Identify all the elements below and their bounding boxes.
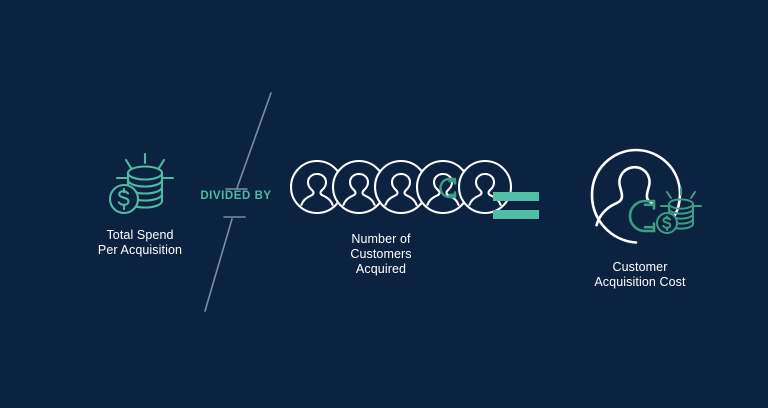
operator-divided-by-label: DIVIDED BY	[200, 190, 271, 202]
operator-equals	[493, 192, 539, 219]
infographic-stage: Total Spend Per Acquisition DIVIDED BY	[0, 0, 768, 408]
operator-divided-by: DIVIDED BY	[186, 190, 286, 202]
equals-bar-top	[493, 192, 539, 201]
term-customer-acquisition-cost: Customer Acquisition Cost	[560, 148, 720, 290]
magnet-icon	[630, 201, 654, 231]
term-customer-acquisition-cost-label: Customer Acquisition Cost	[594, 260, 685, 290]
infographic-canvas: Total Spend Per Acquisition DIVIDED BY	[0, 0, 768, 408]
customer-magnet-coins-icon	[578, 148, 702, 248]
equals-bar-bottom	[493, 210, 539, 219]
customers-magnet-icon	[288, 158, 474, 220]
term-number-of-customers: Number of Customers Acquired	[288, 158, 474, 277]
term-number-of-customers-label: Number of Customers Acquired	[288, 232, 474, 277]
